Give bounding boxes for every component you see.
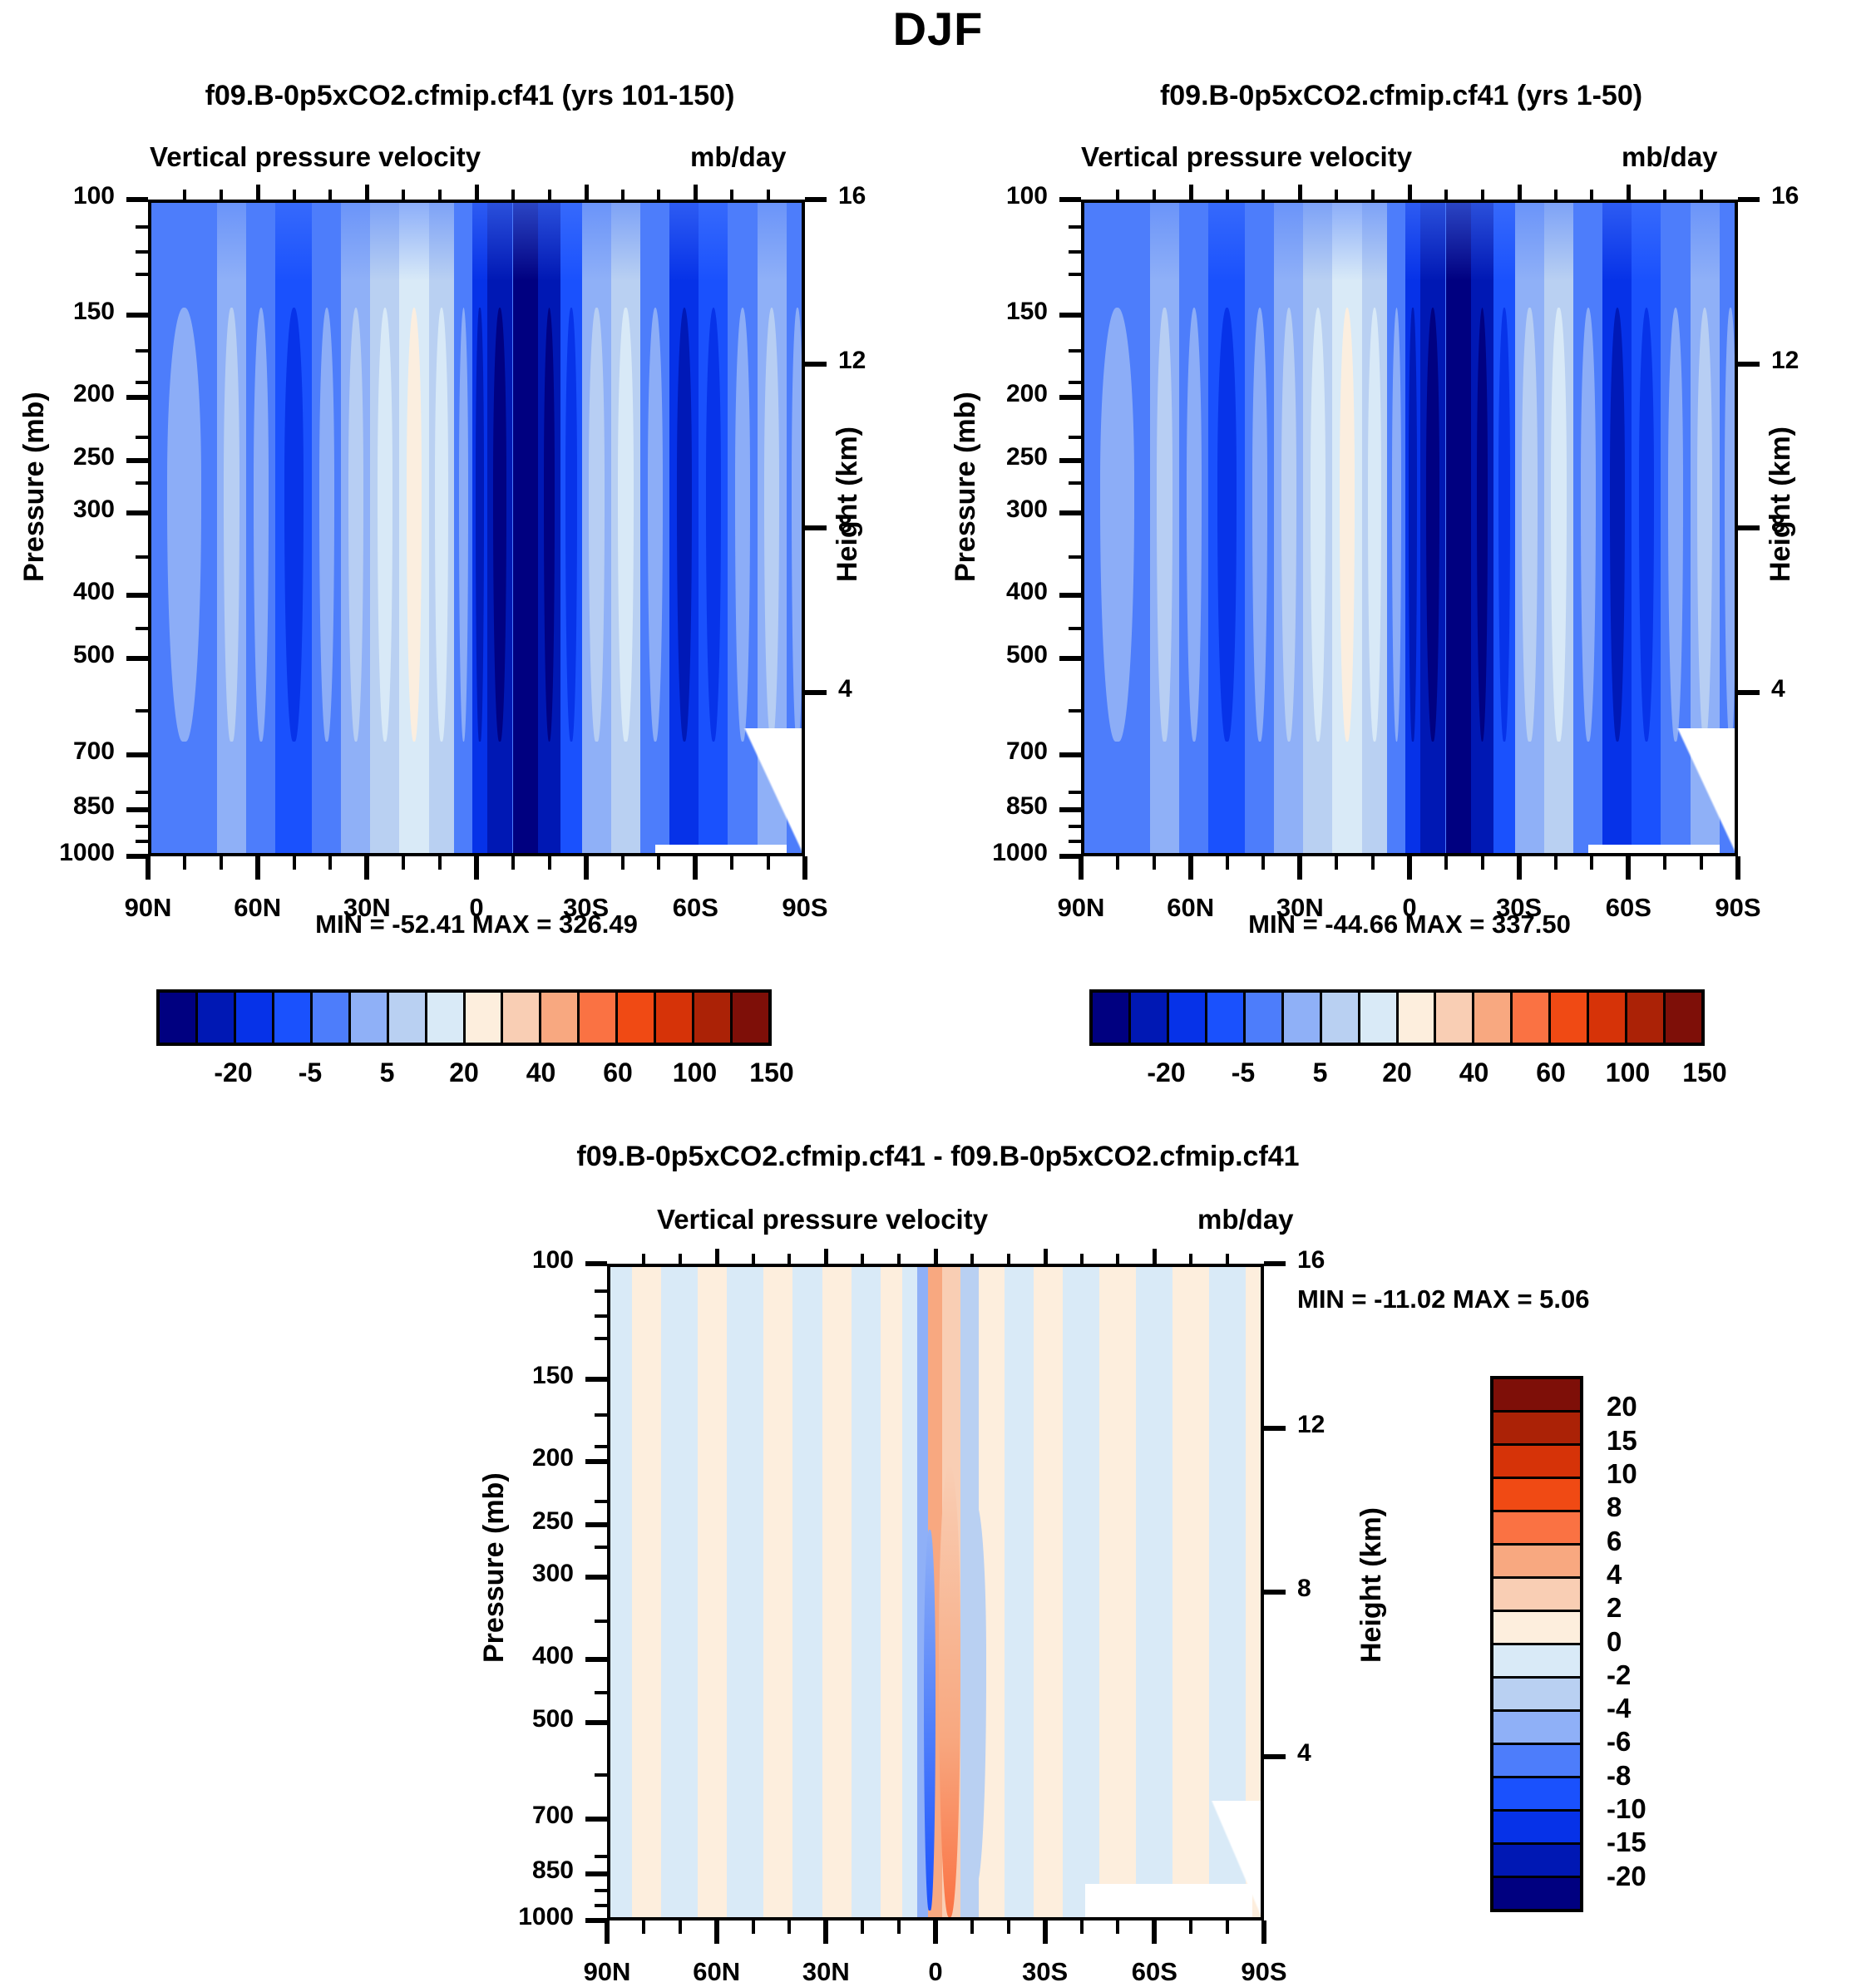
pressure-minor-tick: [1069, 250, 1081, 254]
lat-tick: [802, 856, 807, 880]
colorbar-tick-label: 10: [1607, 1458, 1637, 1490]
lat-top-tick: [1700, 190, 1703, 200]
pressure-minor-tick: [1069, 381, 1081, 384]
contour-band: [1136, 1267, 1172, 1917]
height-tick-label: 16: [1771, 182, 1799, 210]
pressure-tick-label: 250: [449, 1507, 574, 1536]
pressure-tick-label: 850: [923, 792, 1048, 821]
lat-tick: [1626, 856, 1631, 880]
lat-top-tick: [730, 190, 733, 200]
contour-core: [1100, 308, 1134, 741]
pressure-minor-tick: [136, 481, 148, 485]
pressure-minor-tick: [136, 709, 148, 712]
lat-top-tick: [183, 190, 186, 200]
colorbar-cell: [1399, 993, 1437, 1043]
contour-core: [1551, 308, 1566, 741]
y2-axis-label-top-right: Height (km): [1765, 426, 1797, 582]
colorbar-cell: [1169, 993, 1207, 1043]
pressure-minor-tick: [1069, 627, 1081, 630]
colorbar-cell: [1207, 993, 1246, 1043]
colorbar-tick-label: 8: [1607, 1491, 1622, 1523]
lat-top-tick: [220, 190, 223, 200]
lat-top-tick: [1226, 190, 1229, 200]
panel-variable-bottom: Vertical pressure velocity: [657, 1204, 988, 1235]
pressure-tick: [585, 1522, 607, 1527]
lat-tick: [1407, 856, 1412, 880]
pressure-tick-label: 500: [0, 641, 115, 669]
lat-top-tick: [1080, 1254, 1084, 1264]
lat-minor-tick: [293, 856, 296, 870]
colorbar-top-right[interactable]: [1089, 989, 1705, 1046]
colorbar-cell: [541, 993, 580, 1043]
lat-minor-tick: [511, 856, 515, 870]
pressure-minor-tick: [1069, 273, 1081, 276]
lat-tick-label: 90S: [1189, 1957, 1339, 1987]
height-tick: [1738, 362, 1760, 367]
colorbar-cell: [198, 993, 236, 1043]
height-tick-label: 12: [838, 347, 866, 375]
height-tick: [1264, 1754, 1286, 1759]
pressure-tick: [585, 1575, 607, 1580]
panel-variable-top-left: Vertical pressure velocity: [150, 141, 481, 173]
colorbar-cell: [389, 993, 427, 1043]
colorbar-cell: [1493, 1612, 1580, 1645]
pressure-tick-label: 850: [0, 792, 115, 821]
contour-core: [735, 308, 750, 741]
colorbar-tick-label: 6: [1607, 1526, 1622, 1557]
pressure-minor-tick: [136, 381, 148, 384]
colorbar-cell: [1493, 1745, 1580, 1778]
plot-area-top-right[interactable]: [1081, 200, 1738, 856]
pressure-tick-label: 1000: [449, 1903, 574, 1931]
contour-band: [1099, 1267, 1136, 1917]
lat-minor-tick: [767, 856, 770, 870]
pressure-minor-tick: [1069, 555, 1081, 559]
lat-minor-tick: [970, 1920, 974, 1934]
pressure-minor-tick: [595, 1889, 607, 1892]
pressure-tick-label: 150: [0, 298, 115, 326]
colorbar-cell: [1513, 993, 1551, 1043]
lat-top-tick: [679, 1254, 682, 1264]
colorbar-tick-label: -4: [1607, 1693, 1631, 1724]
height-tick-label: 4: [1771, 675, 1785, 703]
colorbar-cell: [1493, 1878, 1580, 1909]
lat-top-tick: [657, 190, 660, 200]
contour-core: [677, 308, 692, 741]
lat-minor-tick: [897, 1920, 901, 1934]
lat-tick: [584, 856, 589, 880]
contour-core: [1368, 308, 1381, 741]
pressure-tick: [126, 458, 148, 463]
colorbar-cell: [313, 993, 351, 1043]
lat-top-tick: [1153, 190, 1156, 200]
lat-top-tick: [293, 190, 296, 200]
height-tick-label: 16: [838, 182, 866, 210]
lat-top-tick: [1298, 185, 1302, 200]
lat-minor-tick: [183, 856, 186, 870]
contour-core: [519, 308, 532, 741]
colorbar-cell: [1589, 993, 1627, 1043]
height-tick: [805, 525, 827, 530]
height-tick-label: 12: [1297, 1411, 1325, 1439]
contour-band: [698, 1267, 727, 1917]
pressure-tick-label: 200: [449, 1444, 574, 1472]
pressure-tick-label: 400: [923, 578, 1048, 606]
lat-tick: [1261, 1920, 1266, 1944]
pressure-tick-label: 100: [0, 182, 115, 210]
contour-core: [224, 308, 239, 741]
contour-core: [792, 308, 803, 741]
pressure-tick-label: 150: [449, 1362, 574, 1390]
minmax-bottom: MIN = -11.02 MAX = 5.06: [1297, 1284, 1590, 1314]
height-tick-label: 8: [1297, 1575, 1311, 1603]
lat-top-tick: [328, 190, 332, 200]
pressure-tick: [1059, 752, 1081, 757]
contour-band: [661, 1267, 698, 1917]
lat-minor-tick: [1554, 856, 1558, 870]
colorbar-tick-label: 150: [722, 1058, 822, 1088]
height-tick-label: 8: [838, 510, 852, 539]
pressure-minor-tick: [595, 1500, 607, 1503]
colorbar-cell: [1322, 993, 1360, 1043]
contour-band: [763, 1267, 792, 1917]
lat-top-tick: [1554, 190, 1558, 200]
pressure-minor-tick: [136, 627, 148, 630]
colorbar-cell: [1493, 1546, 1580, 1579]
lat-minor-tick: [1590, 856, 1593, 870]
colorbar-cell: [733, 993, 768, 1043]
pressure-minor-tick: [595, 1620, 607, 1623]
panel-units-bottom: mb/day: [1197, 1204, 1294, 1235]
lat-tick: [933, 1920, 938, 1944]
contour-core: [476, 308, 483, 741]
y-axis-label-top-right: Pressure (mb): [950, 392, 982, 582]
lat-top-tick: [694, 185, 698, 200]
lat-minor-tick: [1189, 1920, 1192, 1934]
lat-top-tick: [1335, 190, 1338, 200]
topography-mask: [743, 728, 802, 853]
contour-band: [632, 1267, 661, 1917]
colorbar-tick-label: -15: [1607, 1827, 1646, 1858]
height-tick-label: 8: [1771, 510, 1785, 539]
contour-core: [319, 308, 334, 741]
height-tick: [1738, 525, 1760, 530]
contour-band: [610, 1267, 632, 1917]
contour-core: [1522, 308, 1537, 741]
pressure-minor-tick: [595, 1337, 607, 1340]
lat-top-tick: [1116, 1254, 1119, 1264]
lat-minor-tick: [1116, 1920, 1119, 1934]
panel-units-top-left: mb/day: [690, 141, 787, 173]
pressure-minor-tick: [595, 1445, 607, 1448]
plot-area-bottom[interactable]: [607, 1264, 1264, 1920]
lat-top-tick: [1226, 1254, 1229, 1264]
lat-top-tick: [1189, 1254, 1192, 1264]
pressure-tick: [585, 1261, 607, 1266]
contour-core: [1311, 308, 1326, 741]
pressure-tick: [585, 1720, 607, 1725]
lat-tick-label: 90S: [730, 893, 880, 923]
lat-top-tick: [365, 185, 369, 200]
figure-season-title: DJF: [0, 2, 1876, 56]
pressure-tick: [1059, 395, 1081, 400]
panel-title-bottom: f09.B-0p5xCO2.cfmip.cf41 - f09.B-0p5xCO2…: [468, 1141, 1408, 1173]
pressure-tick: [1059, 807, 1081, 812]
panel-variable-top-right: Vertical pressure velocity: [1081, 141, 1412, 173]
pressure-minor-tick: [1069, 709, 1081, 712]
colorbar-cell: [427, 993, 466, 1043]
lat-top-tick: [438, 190, 442, 200]
pressure-tick: [126, 593, 148, 598]
lat-top-tick: [1189, 185, 1193, 200]
contour-core: [459, 308, 468, 741]
colorbar-cell: [1493, 1446, 1580, 1479]
lat-top-tick: [767, 190, 770, 200]
panel-title-top-left: f09.B-0p5xCO2.cfmip.cf41 (yrs 101-150): [0, 80, 940, 112]
lat-minor-tick: [1226, 1920, 1229, 1934]
lat-minor-tick: [1226, 856, 1229, 870]
lat-tick: [1079, 856, 1084, 880]
contour-band: [1172, 1267, 1209, 1917]
colorbar-tick-label: 4: [1607, 1559, 1622, 1590]
colorbar-difference[interactable]: [1490, 1376, 1583, 1912]
pressure-minor-tick: [595, 1314, 607, 1318]
colorbar-cell: [466, 993, 504, 1043]
contour-core: [1217, 308, 1237, 741]
pressure-minor-tick: [595, 1413, 607, 1417]
panel-title-top-right: f09.B-0p5xCO2.cfmip.cf41 (yrs 1-50): [931, 80, 1871, 112]
colorbar-tick-label: -6: [1607, 1726, 1631, 1758]
contour-core: [1252, 308, 1267, 741]
lat-minor-tick: [1116, 856, 1119, 870]
pressure-minor-tick: [595, 1289, 607, 1293]
contour-core: [167, 308, 201, 741]
pressure-minor-tick: [1069, 225, 1081, 229]
pressure-tick: [585, 1377, 607, 1382]
pressure-tick-label: 700: [449, 1802, 574, 1830]
pressure-tick: [585, 1817, 607, 1822]
lat-top-tick: [475, 185, 479, 200]
lat-top-tick: [1518, 185, 1522, 200]
lat-top-tick: [787, 1254, 791, 1264]
pressure-minor-tick: [1069, 481, 1081, 485]
lat-top-tick: [1627, 185, 1631, 200]
contour-upper-fade: [1084, 203, 1735, 281]
pressure-tick-label: 400: [0, 578, 115, 606]
height-tick: [805, 362, 827, 367]
lat-top-tick: [1261, 190, 1265, 200]
colorbar-cell: [1493, 1645, 1580, 1679]
pressure-tick-label: 250: [923, 443, 1048, 471]
colorbar-cell: [694, 993, 733, 1043]
pressure-minor-tick: [595, 1691, 607, 1694]
contour-band: [822, 1267, 852, 1917]
lat-top-tick: [1007, 1254, 1010, 1264]
pressure-minor-tick: [595, 1546, 607, 1549]
surface-strip: [1588, 845, 1720, 853]
lat-minor-tick: [1444, 856, 1448, 870]
lat-tick: [474, 856, 479, 880]
pressure-tick: [126, 656, 148, 661]
colorbar-cell: [1493, 1712, 1580, 1745]
lat-minor-tick: [1080, 1920, 1084, 1934]
contour-core: [284, 308, 304, 741]
lat-minor-tick: [1481, 856, 1484, 870]
lat-tick: [1152, 1920, 1157, 1944]
height-tick: [805, 197, 827, 202]
height-tick: [1264, 1426, 1286, 1431]
pressure-tick-label: 250: [0, 443, 115, 471]
surface-strip: [1085, 1884, 1253, 1917]
contour-band: [1034, 1267, 1063, 1917]
y2-axis-label-top-left: Height (km): [832, 426, 864, 582]
pressure-minor-tick: [136, 349, 148, 353]
colorbar-cell: [1493, 1413, 1580, 1446]
pressure-tick: [585, 1871, 607, 1876]
lat-tick: [1297, 856, 1302, 880]
lat-top-tick: [715, 1249, 719, 1264]
contour-core: [1725, 308, 1736, 741]
plot-area-top-left[interactable]: [148, 200, 805, 856]
lat-top-tick: [824, 1249, 828, 1264]
lat-tick: [714, 1920, 719, 1944]
contour-core: [378, 308, 392, 741]
pressure-tick-label: 1000: [0, 839, 115, 867]
topography-mask: [1676, 728, 1735, 853]
colorbar-cell: [236, 993, 274, 1043]
lat-minor-tick: [402, 856, 405, 870]
lat-tick: [1043, 1920, 1048, 1944]
pressure-tick: [126, 807, 148, 812]
colorbar-tick-label: 2: [1607, 1592, 1622, 1624]
colorbar-cell: [1493, 1778, 1580, 1812]
height-tick: [1264, 1261, 1286, 1266]
lat-minor-tick: [1371, 856, 1375, 870]
pressure-tick-label: 700: [923, 737, 1048, 766]
contour-core: [1340, 308, 1355, 741]
lat-top-tick: [1590, 190, 1593, 200]
lat-tick: [146, 856, 151, 880]
pressure-tick-label: 100: [449, 1246, 574, 1275]
lat-minor-tick: [1335, 856, 1338, 870]
colorbar-cell: [1436, 993, 1474, 1043]
colorbar-cell: [580, 993, 618, 1043]
lat-top-tick: [752, 1254, 755, 1264]
colorbar-tick-label: -20: [1607, 1861, 1646, 1892]
lat-tick: [1517, 856, 1522, 880]
contour-band: [1005, 1267, 1034, 1917]
contour-core: [1452, 308, 1465, 741]
colorbar-cell: [1493, 1579, 1580, 1612]
lat-minor-tick: [679, 1920, 682, 1934]
height-tick-label: 12: [1771, 347, 1799, 375]
contour-band: [727, 1267, 763, 1917]
pressure-minor-tick: [136, 250, 148, 254]
southern-negative-core: [965, 1503, 986, 1884]
lat-top-tick: [897, 1254, 901, 1264]
lat-top-tick: [402, 190, 405, 200]
lat-minor-tick: [328, 856, 332, 870]
pressure-tick-label: 400: [449, 1642, 574, 1670]
contour-core: [1668, 308, 1683, 741]
contour-band: [1063, 1267, 1099, 1917]
contour-core: [589, 308, 604, 741]
lat-tick: [1188, 856, 1193, 880]
colorbar-cell: [274, 993, 313, 1043]
pressure-minor-tick: [136, 791, 148, 794]
lat-top-tick: [511, 190, 515, 200]
contour-core: [1426, 308, 1439, 741]
lat-minor-tick: [548, 856, 551, 870]
lat-top-tick: [585, 185, 589, 200]
lat-minor-tick: [787, 1920, 791, 1934]
pressure-minor-tick: [136, 225, 148, 229]
pressure-tick-label: 150: [923, 298, 1048, 326]
lat-tick: [255, 856, 260, 880]
pressure-minor-tick: [595, 1855, 607, 1858]
pressure-minor-tick: [1069, 436, 1081, 439]
pressure-tick-label: 500: [923, 641, 1048, 669]
contour-core: [1281, 308, 1296, 741]
colorbar-tick-label: -8: [1607, 1760, 1631, 1792]
colorbar-cell: [1627, 993, 1666, 1043]
lat-minor-tick: [1700, 856, 1703, 870]
colorbar-tick-label: -2: [1607, 1659, 1631, 1691]
pressure-tick: [585, 1657, 607, 1662]
lat-top-tick: [1044, 1249, 1048, 1264]
lat-tick: [364, 856, 369, 880]
lat-minor-tick: [657, 856, 660, 870]
contour-core: [435, 308, 448, 741]
contour-core: [706, 308, 721, 741]
lat-top-tick: [934, 1249, 938, 1264]
pressure-tick-label: 500: [449, 1705, 574, 1733]
pressure-minor-tick: [136, 436, 148, 439]
pressure-tick: [1059, 458, 1081, 463]
pressure-minor-tick: [136, 273, 148, 276]
colorbar-cell: [656, 993, 694, 1043]
colorbar-top-left[interactable]: [156, 989, 772, 1046]
pressure-tick-label: 1000: [923, 839, 1048, 867]
colorbar-cell: [1493, 1379, 1580, 1413]
lat-minor-tick: [1007, 1920, 1010, 1934]
height-tick: [805, 690, 827, 695]
pressure-tick-label: 100: [923, 182, 1048, 210]
height-tick: [1738, 690, 1760, 695]
lat-minor-tick: [621, 856, 625, 870]
lat-top-tick: [1481, 190, 1484, 200]
colorbar-cell: [1666, 993, 1701, 1043]
pressure-tick: [126, 197, 148, 202]
pressure-tick-label: 850: [449, 1856, 574, 1885]
equatorial-negative-core: [924, 1530, 935, 1911]
figure-root: DJF f09.B-0p5xCO2.cfmip.cf41 (yrs 101-15…: [0, 0, 1876, 1981]
colorbar-cell: [1474, 993, 1513, 1043]
contour-core: [1581, 308, 1596, 741]
colorbar-tick-label: 0: [1607, 1626, 1622, 1658]
pressure-tick: [126, 395, 148, 400]
contour-core: [254, 308, 269, 741]
lat-top-tick: [256, 185, 260, 200]
lat-minor-tick: [1153, 856, 1156, 870]
contour-core: [1498, 308, 1510, 741]
lat-minor-tick: [861, 1920, 864, 1934]
pressure-tick: [126, 752, 148, 757]
pressure-tick: [585, 1459, 607, 1464]
lat-tick-label: 90S: [1663, 893, 1813, 923]
height-tick-label: 4: [1297, 1739, 1311, 1768]
lat-minor-tick: [1261, 856, 1265, 870]
